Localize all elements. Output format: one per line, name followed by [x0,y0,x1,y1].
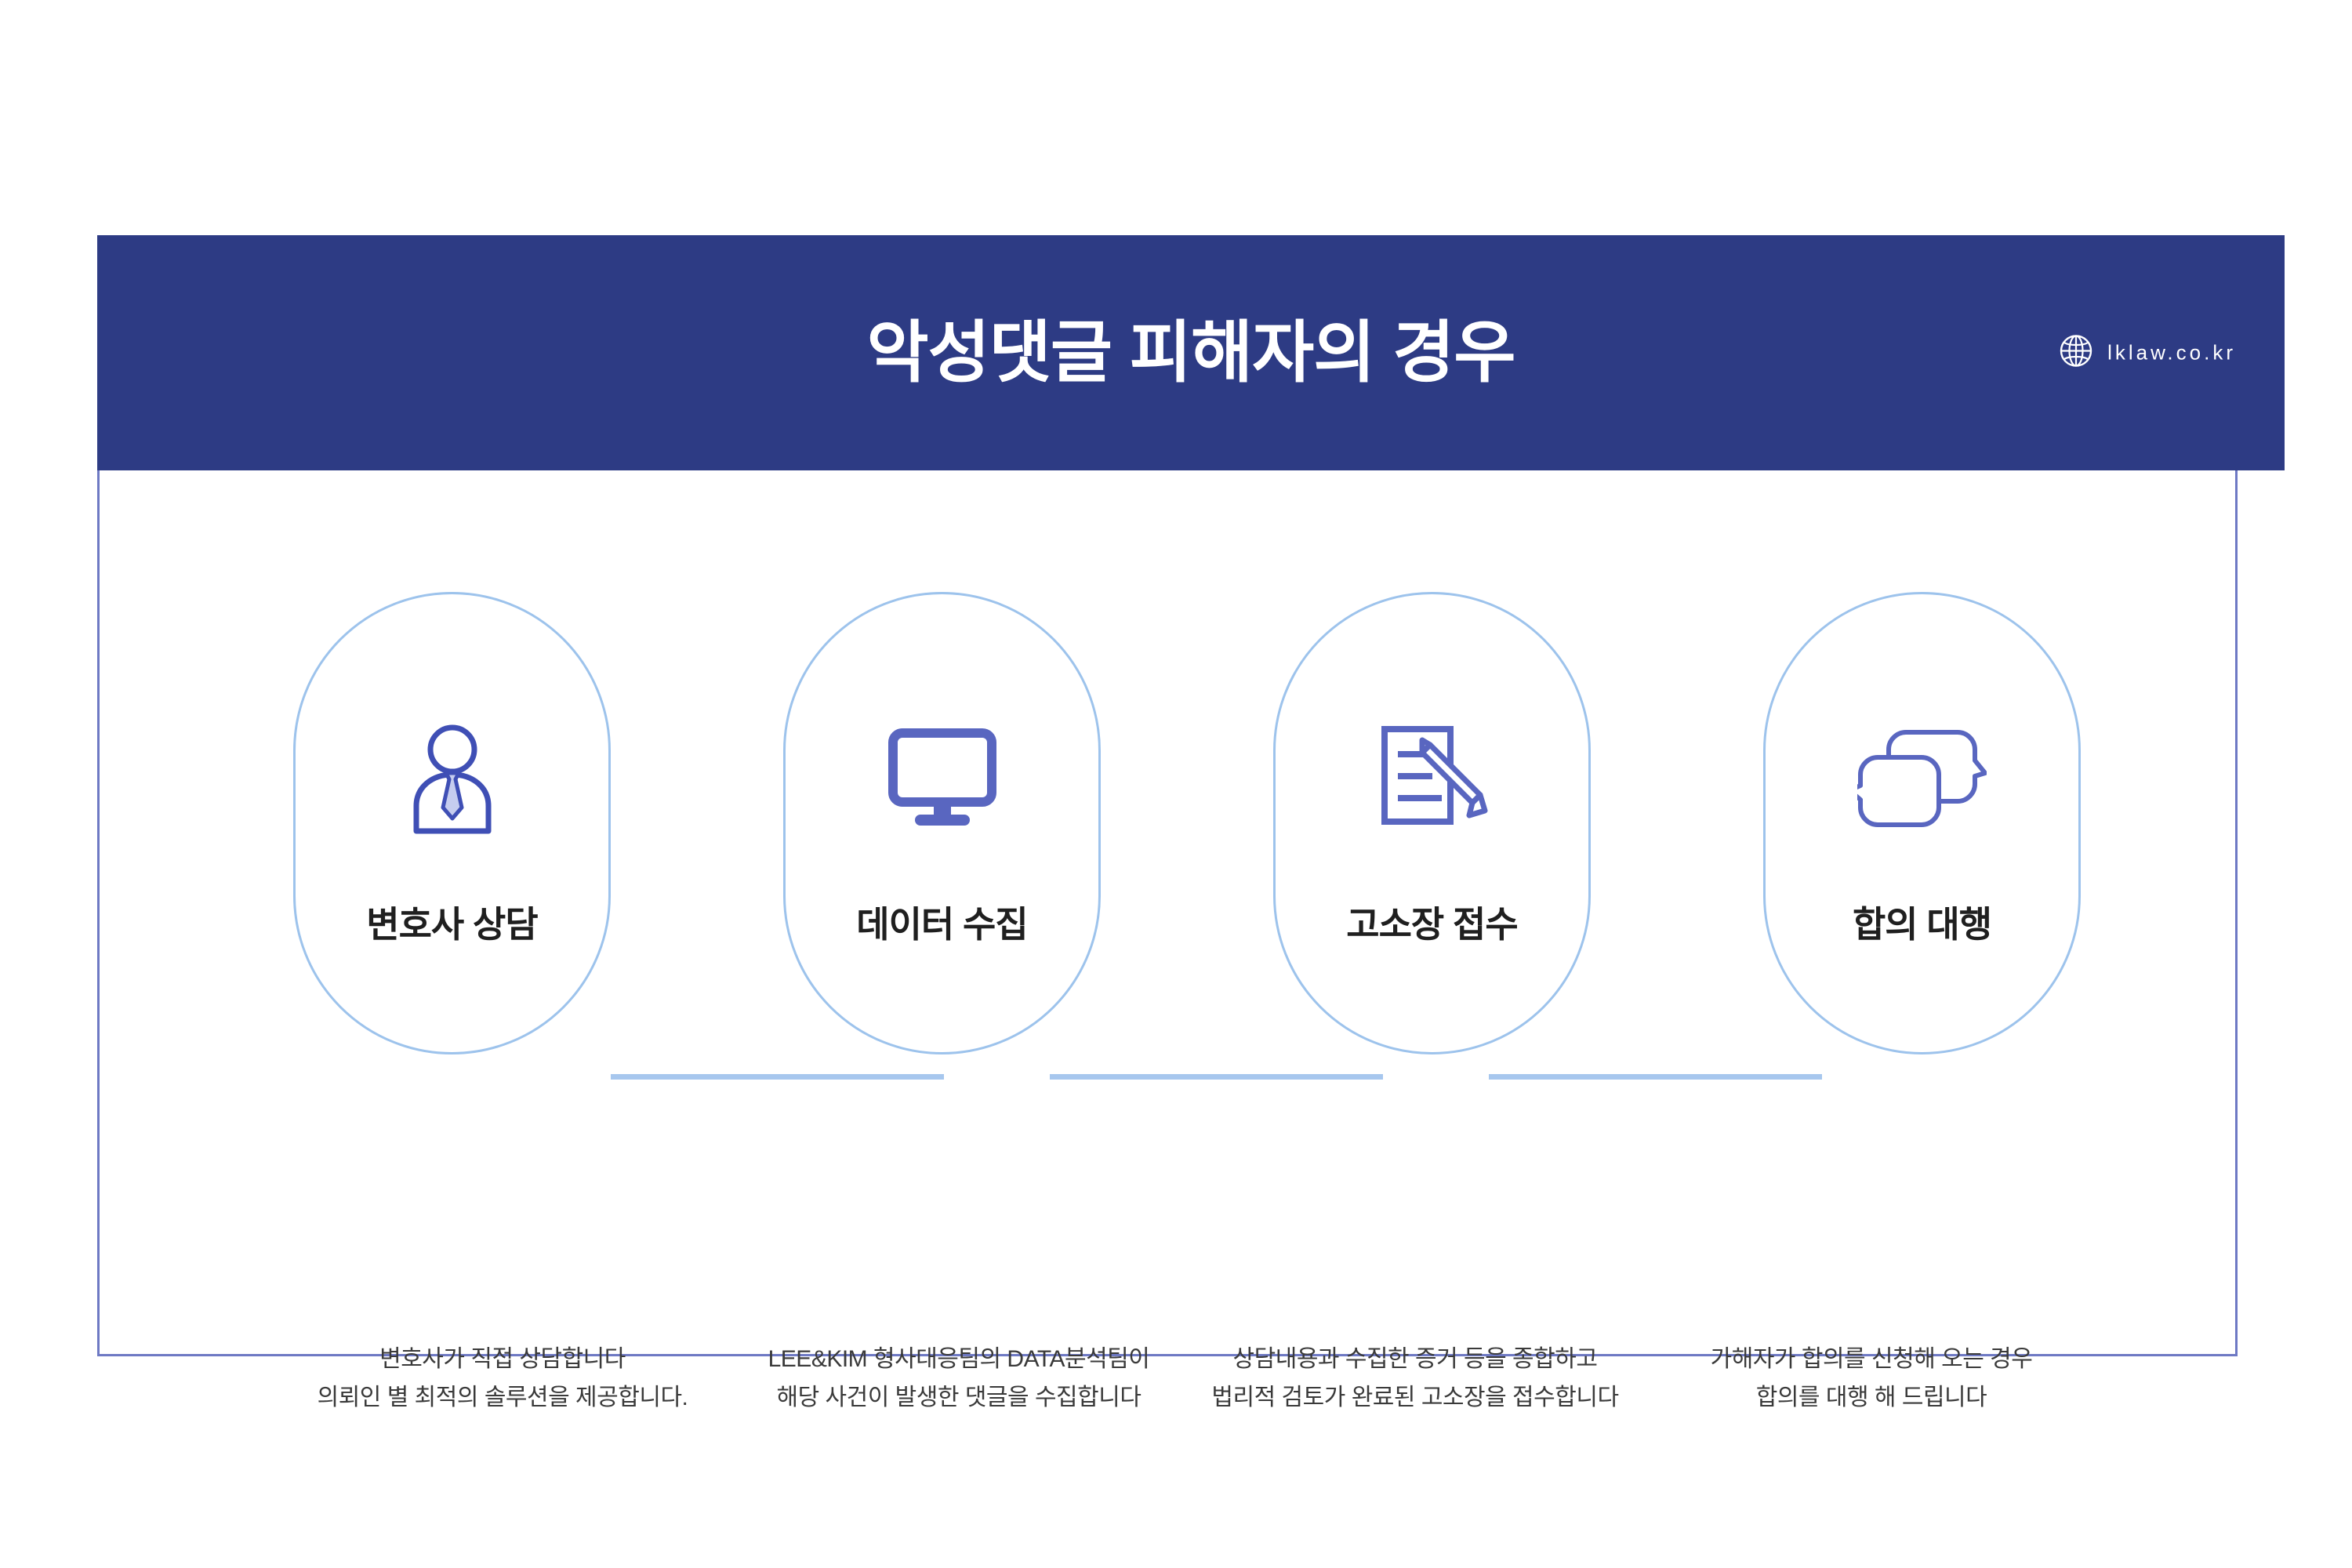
step-list: 변호사 상담 데이터 수집 [293,592,2081,1094]
step-description-line: 법리적 검토가 완료된 고소장을 접수합니다 [1192,1379,1639,1417]
step-item-lawyer-consultation[interactable]: 변호사 상담 [293,592,611,1054]
step-item-complaint-filing[interactable]: 고소장 접수 [1273,592,1591,1054]
step-description-line: 의뢰인 별 최적의 솔루션을 제공합니다. [279,1379,726,1417]
brand-logo: lklaw.co.kr [2059,334,2236,372]
step-description: 상담내용과 수집한 증거 등을 종합하고 법리적 검토가 완료된 고소장을 접수… [1192,1341,1639,1417]
description-list: 변호사가 직접 상담합니다 의뢰인 별 최적의 솔루션을 제공합니다. LEE&… [293,1341,2081,1417]
card-header: 악성댓글 피해자의 경우 lklaw.co.kr [97,235,2285,470]
step-description-line: 해당 사건이 발생한 댓글을 수집합니다 [735,1379,1182,1417]
step-description-line: 합의를 대행 해 드립니다 [1648,1379,2095,1417]
document-pencil-icon [1366,716,1499,841]
globe-icon [2059,334,2093,372]
step-description: 가해자가 합의를 신청해 오는 경우 합의를 대행 해 드립니다 [1648,1341,2095,1417]
step-label: 변호사 상담 [296,896,608,948]
step-description-line: LEE&KIM 형사대응팀의 DATA분석팀이 [735,1341,1182,1379]
infographic-stage: 악성댓글 피해자의 경우 lklaw.co.kr [0,0,2352,1568]
step-item-data-collection[interactable]: 데이터 수집 [783,592,1101,1054]
step-description-line: 가해자가 합의를 신청해 오는 경우 [1648,1341,2095,1379]
brand-url-text: lklaw.co.kr [2107,341,2236,365]
step-label: 합의 대행 [1766,896,2078,948]
step-label: 데이터 수집 [786,896,1098,948]
step-label: 고소장 접수 [1276,896,1588,948]
page-title: 악성댓글 피해자의 경우 [867,319,1515,387]
infographic-card: 악성댓글 피해자의 경우 lklaw.co.kr [97,235,2285,1356]
step-description-line: 상담내용과 수집한 증거 등을 종합하고 [1192,1341,1639,1379]
step-description-line: 변호사가 직접 상담합니다 [279,1341,726,1379]
step-item-settlement-agency[interactable]: 합의 대행 [1763,592,2081,1054]
speech-bubbles-icon [1856,716,1989,841]
step-description: LEE&KIM 형사대응팀의 DATA분석팀이 해당 사건이 발생한 댓글을 수… [735,1341,1182,1417]
lawyer-person-icon [386,716,519,841]
step-description: 변호사가 직접 상담합니다 의뢰인 별 최적의 솔루션을 제공합니다. [279,1341,726,1417]
monitor-icon [876,716,1009,841]
